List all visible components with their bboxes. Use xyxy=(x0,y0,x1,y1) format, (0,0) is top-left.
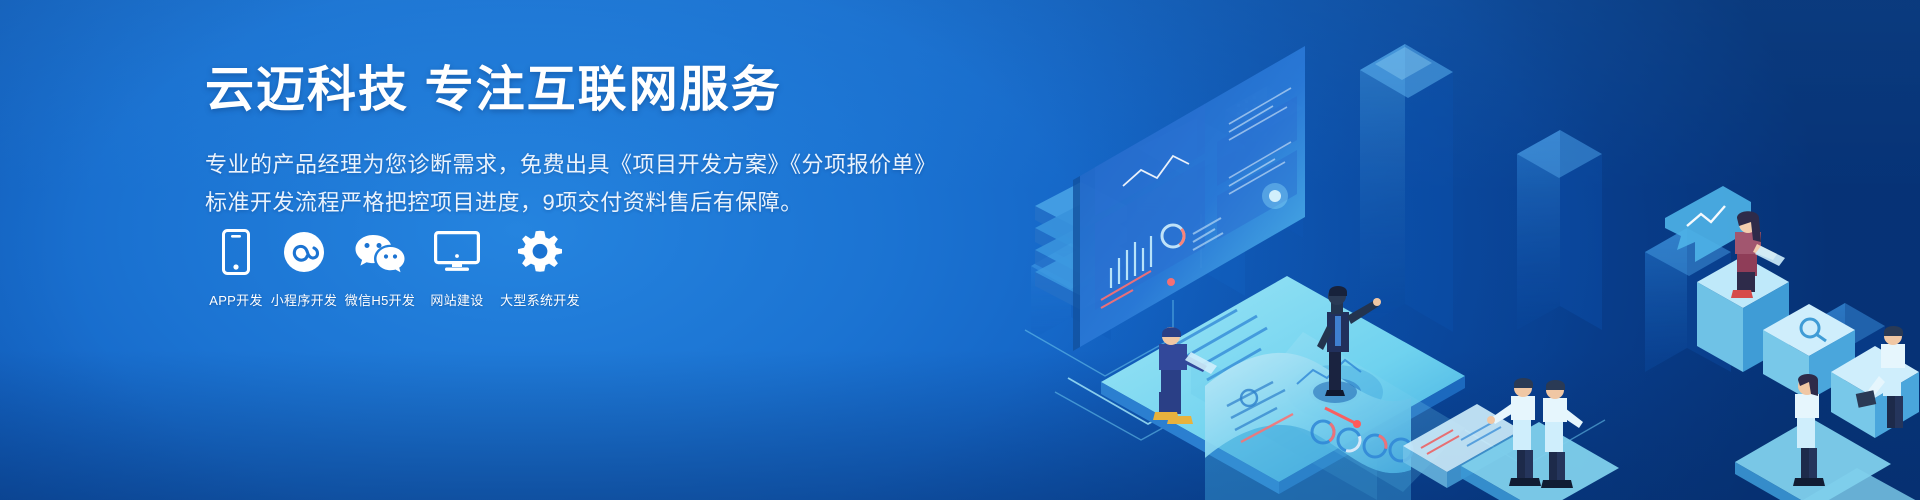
banner-subtitle: 专业的产品经理为您诊断需求，免费出具《项目开发方案》《分项报价单》 标准开发流程… xyxy=(205,146,905,222)
gear-icon xyxy=(518,228,562,276)
monitor-icon xyxy=(434,228,480,276)
service-item-website[interactable]: 网站建设 xyxy=(421,228,493,309)
service-item-miniprogram[interactable]: 小程序开发 xyxy=(269,228,339,309)
page-title: 云迈科技 专注互联网服务 xyxy=(205,62,905,120)
service-label-system: 大型系统开发 xyxy=(500,290,580,309)
subtitle-line-2: 标准开发流程严格把控项目进度，9项交付资料售后有保障。 xyxy=(205,184,905,222)
service-label-website: 网站建设 xyxy=(430,290,483,309)
illustration-isometric-scene xyxy=(905,0,1920,500)
service-item-system[interactable]: 大型系统开发 xyxy=(493,228,587,309)
service-icon-row: APP开发 小程序开发 xyxy=(203,228,587,309)
mobile-phone-icon xyxy=(222,228,250,276)
mini-program-icon xyxy=(283,228,325,276)
service-item-app[interactable]: APP开发 xyxy=(203,228,269,309)
subtitle-line-1: 专业的产品经理为您诊断需求，免费出具《项目开发方案》《分项报价单》 xyxy=(205,146,905,184)
service-item-wechat[interactable]: 微信H5开发 xyxy=(339,228,421,309)
service-label-miniprogram: 小程序开发 xyxy=(271,290,338,309)
service-label-wechat: 微信H5开发 xyxy=(345,290,415,309)
wechat-icon xyxy=(355,228,405,276)
banner-text-block: 云迈科技 专注互联网服务 专业的产品经理为您诊断需求，免费出具《项目开发方案》《… xyxy=(205,62,905,221)
service-label-app: APP开发 xyxy=(209,290,263,309)
hero-banner: 云迈科技 专注互联网服务 专业的产品经理为您诊断需求，免费出具《项目开发方案》《… xyxy=(0,0,1920,500)
